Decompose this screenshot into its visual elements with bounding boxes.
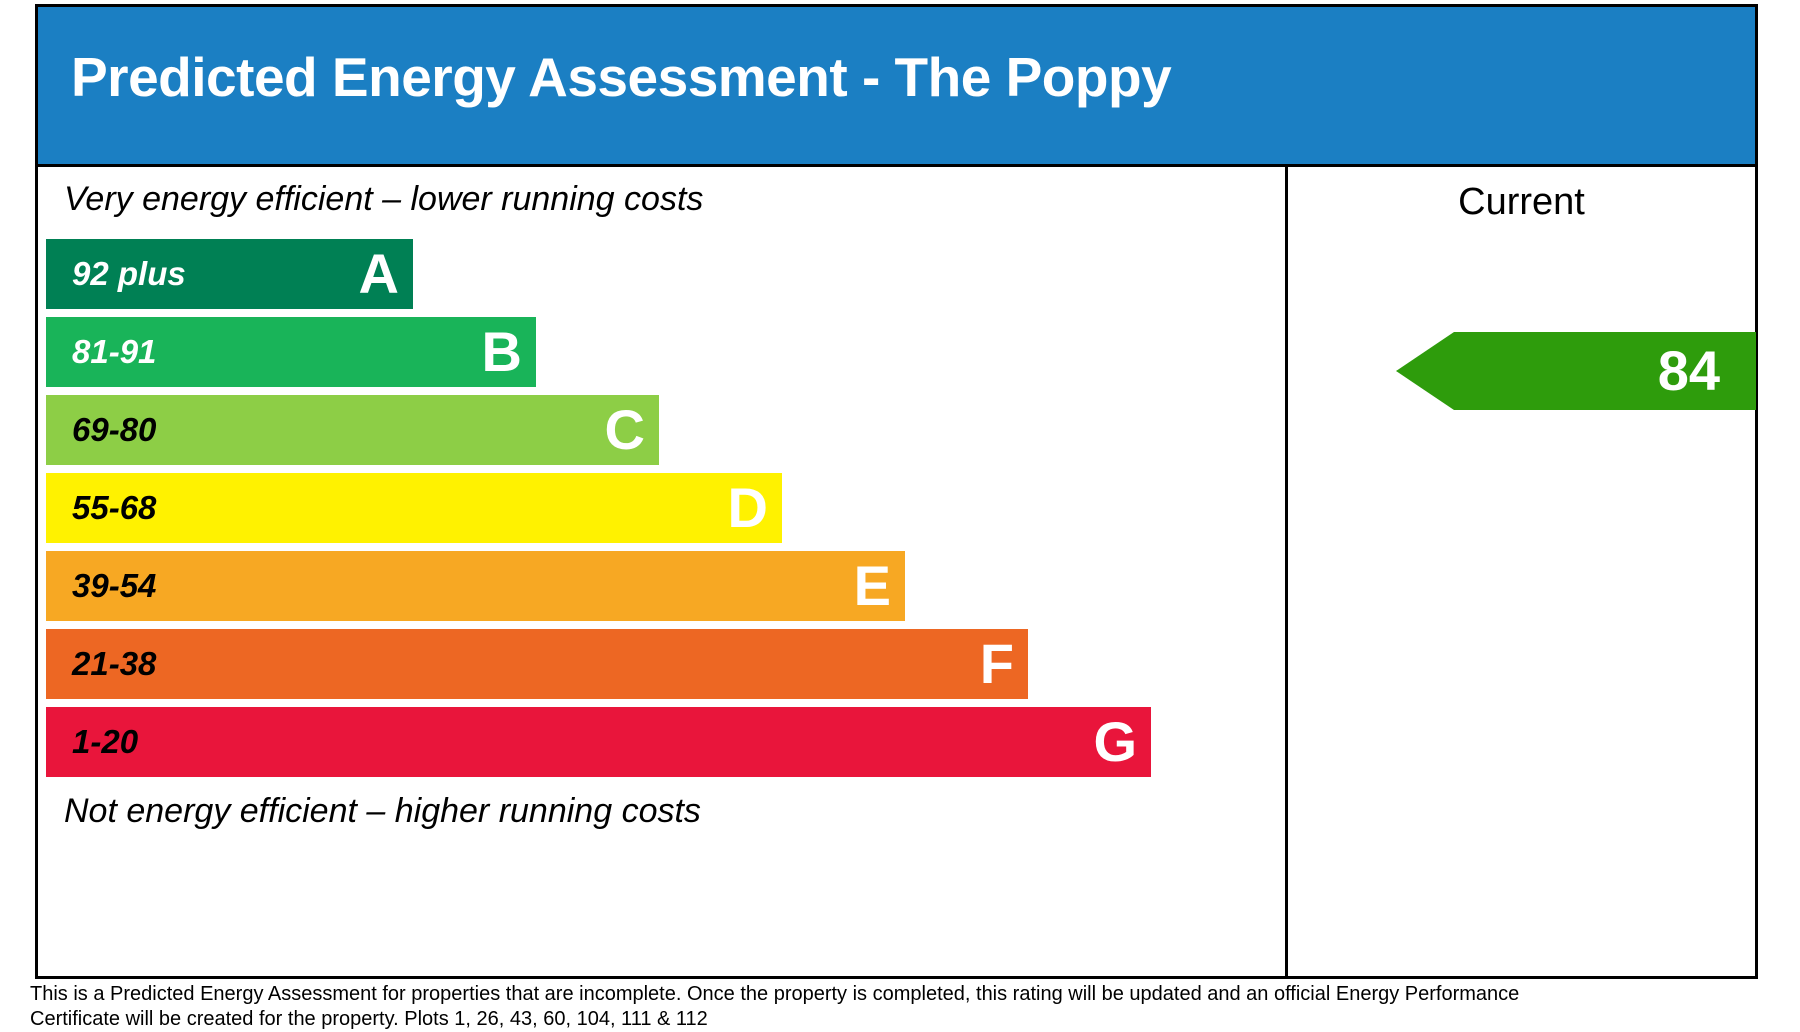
band-range-label: 92 plus: [72, 255, 186, 293]
energy-band-g: 1-20G: [38, 707, 1285, 777]
band-bar-a: 92 plusA: [46, 239, 413, 309]
chart-body: Very energy efficient – lower running co…: [38, 167, 1755, 976]
page-title: Predicted Energy Assessment - The Poppy: [71, 45, 1171, 109]
band-bar-f: 21-38F: [46, 629, 1028, 699]
band-bar-d: 55-68D: [46, 473, 782, 543]
band-letter-d: D: [728, 480, 768, 536]
footer-disclaimer: This is a Predicted Energy Assessment fo…: [30, 982, 1770, 1032]
band-letter-f: F: [980, 636, 1014, 692]
energy-band-e: 39-54E: [38, 551, 1285, 621]
band-letter-c: C: [605, 402, 645, 458]
band-letter-a: A: [359, 246, 399, 302]
band-bar-b: 81-91B: [46, 317, 536, 387]
band-range-label: 1-20: [72, 723, 138, 761]
band-range-label: 69-80: [72, 411, 156, 449]
energy-band-f: 21-38F: [38, 629, 1285, 699]
band-range-label: 39-54: [72, 567, 156, 605]
energy-band-list: 92 plusA81-91B69-80C55-68D39-54E21-38F1-…: [38, 239, 1285, 785]
band-letter-e: E: [854, 558, 891, 614]
current-rating-value: 84: [1658, 343, 1720, 399]
scale-caption-bottom: Not energy efficient – higher running co…: [64, 792, 701, 831]
epc-certificate: Predicted Energy Assessment - The Poppy …: [35, 4, 1758, 979]
band-range-label: 55-68: [72, 489, 156, 527]
band-range-label: 21-38: [72, 645, 156, 683]
current-rating-column: Current 84: [1288, 167, 1755, 976]
band-range-label: 81-91: [72, 333, 156, 371]
current-column-header: Current: [1288, 181, 1755, 224]
footer-line-2: Certificate will be created for the prop…: [30, 1007, 1770, 1032]
energy-band-d: 55-68D: [38, 473, 1285, 543]
energy-scale-column: Very energy efficient – lower running co…: [38, 167, 1285, 976]
footer-line-1: This is a Predicted Energy Assessment fo…: [30, 982, 1770, 1007]
scale-caption-top: Very energy efficient – lower running co…: [64, 180, 703, 219]
band-letter-g: G: [1093, 714, 1137, 770]
band-bar-c: 69-80C: [46, 395, 659, 465]
energy-band-b: 81-91B: [38, 317, 1285, 387]
band-bar-g: 1-20G: [46, 707, 1151, 777]
energy-band-c: 69-80C: [38, 395, 1285, 465]
band-letter-b: B: [482, 324, 522, 380]
band-bar-e: 39-54E: [46, 551, 905, 621]
title-bar: Predicted Energy Assessment - The Poppy: [38, 7, 1755, 167]
energy-band-a: 92 plusA: [38, 239, 1285, 309]
current-rating-arrow: 84: [1396, 332, 1756, 410]
